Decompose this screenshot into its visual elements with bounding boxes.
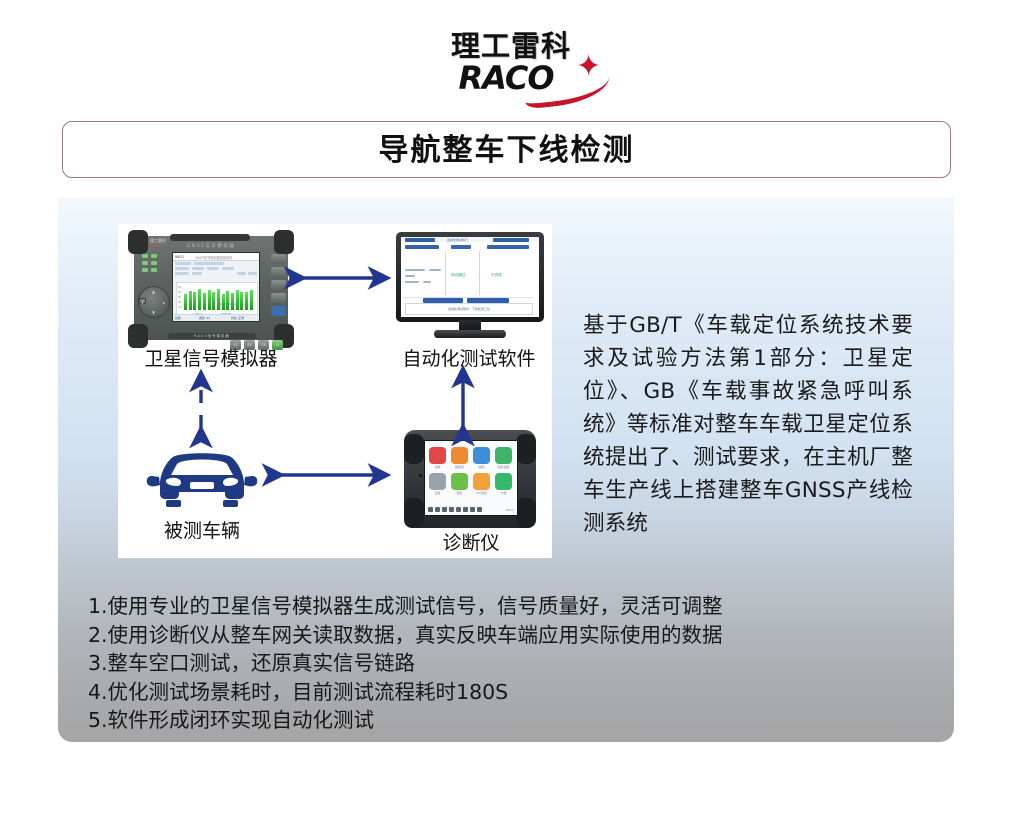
dpad-up-icon[interactable]: ▲	[152, 289, 155, 294]
battery-status-text: 100%	[505, 508, 514, 512]
tablet-app-label: 数据流	[451, 465, 468, 470]
software-tabs[interactable]: 自动化测试执行	[401, 237, 539, 243]
y-tick: 10	[178, 306, 181, 309]
tablet-camera-icon	[419, 474, 422, 477]
dock-icon[interactable]	[463, 507, 468, 512]
chart-bars	[184, 286, 255, 310]
logo-english-text: RACO	[426, 61, 586, 95]
chart-bar	[240, 292, 243, 310]
y-tick: 40	[178, 291, 181, 294]
list-item: 3.整车空口测试，还原真实信号链路	[88, 649, 888, 678]
tablet-app-icon[interactable]: 数据流	[451, 447, 468, 464]
chart-y-axis: 50 40 30 20 10	[178, 286, 183, 310]
tablet-app-label: 设置	[429, 491, 446, 496]
simulator-side-button-active[interactable]	[271, 306, 286, 316]
param-chip	[194, 262, 224, 265]
tablet-app-icon[interactable]: 诊断	[429, 447, 446, 464]
simulator-dpad[interactable]: ▲ ◂ ▸ ▼ OK	[138, 286, 170, 318]
dock-icon[interactable]	[449, 507, 454, 512]
y-tick: 50	[178, 286, 181, 289]
arrow-simulator-to-vehicle	[192, 362, 210, 440]
header-chip	[451, 245, 471, 249]
chart-bar	[189, 291, 192, 310]
page-title: 导航整车下线检测	[63, 122, 950, 179]
param-chip	[207, 267, 219, 270]
tab-chip[interactable]	[493, 238, 529, 242]
chart-bar	[212, 292, 215, 310]
led-indicator	[142, 261, 148, 265]
simulator-top-caption: GNSS信号模拟器	[168, 243, 254, 251]
simulator-screen: RACO GNSS信号模拟器控制软件 50 40 30	[172, 252, 260, 322]
tablet-grip	[516, 498, 536, 528]
chart-bar	[208, 290, 211, 310]
param-chip	[192, 272, 202, 275]
software-field-lines	[405, 269, 439, 287]
status-text: 状态: 正常	[231, 316, 244, 320]
param-chip	[175, 272, 189, 275]
param-chip	[248, 272, 257, 275]
feature-list: 1.使用专业的卫星信号模拟器生成测试信号，信号质量好，灵活可调整 2.使用诊断仪…	[88, 592, 888, 735]
tablet-dock[interactable]: 100%	[428, 505, 514, 512]
param-chip	[175, 262, 191, 265]
field-line	[429, 269, 441, 271]
chart-bar	[226, 291, 229, 310]
list-item: 4.优化测试场景耗时，目前测试流程耗时180S	[88, 678, 888, 707]
simulator-side-button[interactable]	[271, 293, 286, 303]
label-vehicle-under-test: 被测车辆	[140, 516, 264, 543]
chart-bar	[184, 294, 187, 310]
label-diagnostic-tool: 诊断仪	[408, 528, 534, 555]
field-line	[405, 269, 425, 271]
software-footer: 自动化测试软件 · 下线检测工位	[405, 303, 533, 315]
tablet-app-label: 升级	[495, 491, 512, 496]
led-indicator	[142, 268, 148, 272]
simulator-side-button[interactable]	[271, 254, 286, 264]
status-pass-right: 已完成	[491, 273, 502, 278]
dock-icon[interactable]	[470, 507, 475, 512]
header-chip	[405, 245, 439, 249]
label-automation-software: 自动化测试软件	[386, 344, 552, 371]
chart-caption: 卫星 / 载噪比 (dB-Hz)	[201, 302, 247, 306]
software-columns: 测试通过 已完成	[401, 251, 539, 299]
status-text: 就绪	[175, 316, 181, 320]
field-line	[405, 281, 419, 283]
y-tick: 30	[178, 296, 181, 299]
label-satellite-simulator: 卫星信号模拟器	[124, 344, 298, 371]
tablet-app-icon[interactable]: 升级	[495, 473, 512, 490]
tablet-app-icon[interactable]: VCI连接	[473, 473, 490, 490]
software-screen: 自动化测试执行	[401, 237, 539, 317]
simulator-side-buttons[interactable]	[271, 254, 287, 324]
tablet-app-icon[interactable]: 设置	[429, 473, 446, 490]
status-text: 通道: 32	[199, 316, 210, 320]
arrow-vehicle-to-diagnostic	[270, 467, 400, 483]
list-item: 1.使用专业的卫星信号模拟器生成测试信号，信号质量好，灵活可调整	[88, 592, 888, 621]
tab-chip[interactable]	[405, 238, 435, 242]
tablet-app-label: 诊断	[429, 465, 446, 470]
company-logo: 理工雷科 RACO	[416, 28, 606, 100]
led-indicator	[151, 261, 157, 265]
status-pass-left: 测试通过	[451, 273, 465, 278]
tablet-app-icon[interactable]: 编码	[473, 447, 490, 464]
tablet-grip	[516, 434, 536, 464]
column-divider	[445, 251, 446, 295]
diagnostic-tablet-device: 诊断数据流编码网关读取设置保养VCI连接升级 100%	[404, 430, 536, 532]
satellite-simulator-device: 理工雷科 RACO GNSS信号模拟器 ▲ ◂ ▸ ▼ OK	[128, 230, 294, 348]
column-divider	[479, 251, 480, 295]
vehicle-icon	[146, 440, 258, 510]
list-item: 5.软件形成闭环实现自动化测试	[88, 706, 888, 735]
screen-titlebar: RACO GNSS信号模拟器控制软件	[173, 253, 259, 261]
monitor-base	[434, 330, 506, 338]
field-line	[423, 281, 431, 283]
architecture-diagram: 理工雷科 RACO GNSS信号模拟器 ▲ ◂ ▸ ▼ OK	[118, 224, 552, 558]
signal-level-chart: 50 40 30 20 10 GPS L1 BDS B1 卫星 / 载噪比 (d…	[176, 282, 258, 315]
tab-label-active[interactable]: 自动化测试执行	[447, 238, 468, 242]
screen-parameter-rows	[175, 262, 257, 279]
chart-bar	[236, 290, 239, 310]
chart-bar	[193, 292, 196, 310]
simulator-bumper	[128, 230, 148, 254]
y-tick: 20	[178, 301, 181, 304]
tablet-grip	[404, 498, 424, 528]
led-indicator	[151, 254, 157, 258]
dock-icon[interactable]	[442, 507, 447, 512]
screen-app-subtitle: GNSS信号模拟器控制软件	[195, 255, 233, 259]
simulator-side-button[interactable]	[271, 280, 286, 290]
tablet-app-grid[interactable]: 诊断数据流编码网关读取设置保养VCI连接升级	[429, 447, 513, 497]
param-chip	[222, 267, 234, 270]
tablet-app-icon[interactable]: 网关读取	[495, 447, 512, 464]
tablet-grip	[404, 434, 424, 464]
dpad-right-icon[interactable]: ▸	[163, 300, 165, 305]
list-item: 2.使用诊断仪从整车网关读取数据，真实反映车端应用实际使用的数据	[88, 621, 888, 650]
monitor-bezel: 自动化测试执行	[396, 232, 544, 322]
param-chip	[175, 267, 189, 270]
chart-bar	[250, 290, 253, 310]
dpad-down-icon[interactable]: ▼	[152, 310, 155, 315]
param-chip	[192, 267, 204, 270]
dock-icon[interactable]	[435, 507, 440, 512]
field-line	[405, 275, 415, 277]
dock-icon[interactable]	[428, 507, 433, 512]
header-chip	[487, 245, 529, 249]
chart-bar	[217, 289, 220, 310]
simulator-led-panel	[142, 254, 164, 278]
dpad-left-icon[interactable]: ◂	[141, 300, 143, 305]
tablet-screen: 诊断数据流编码网关读取设置保养VCI连接升级 100%	[424, 440, 518, 516]
dock-icon[interactable]	[477, 507, 482, 512]
tablet-app-label: 编码	[473, 465, 490, 470]
simulator-handle	[170, 234, 250, 241]
chart-bar	[198, 289, 201, 310]
led-indicator	[142, 254, 148, 258]
tablet-app-icon[interactable]: 保养	[451, 473, 468, 490]
screen-statusbar: 就绪 通道: 32 状态: 正常	[173, 314, 259, 321]
simulator-bumper	[274, 230, 294, 254]
automation-software-monitor: 自动化测试执行	[396, 232, 544, 344]
software-footer-text: 自动化测试软件 · 下线检测工位	[406, 304, 532, 314]
tablet-app-label: 保养	[451, 491, 468, 496]
simulator-side-button[interactable]	[271, 267, 286, 277]
param-chip	[237, 272, 246, 275]
led-indicator	[151, 268, 157, 272]
dock-icon[interactable]	[456, 507, 461, 512]
screen-app-title: RACO	[175, 255, 184, 259]
description-paragraph: 基于GB/T《车载定位系统技术要求及试验方法第1部分：卫星定位》、GB《车载事故…	[583, 309, 913, 540]
slide-title-box: 导航整车下线检测	[62, 121, 951, 178]
tablet-app-label: VCI连接	[473, 491, 490, 496]
arrow-simulator-to-software	[292, 270, 400, 286]
tablet-app-label: 网关读取	[495, 465, 512, 470]
